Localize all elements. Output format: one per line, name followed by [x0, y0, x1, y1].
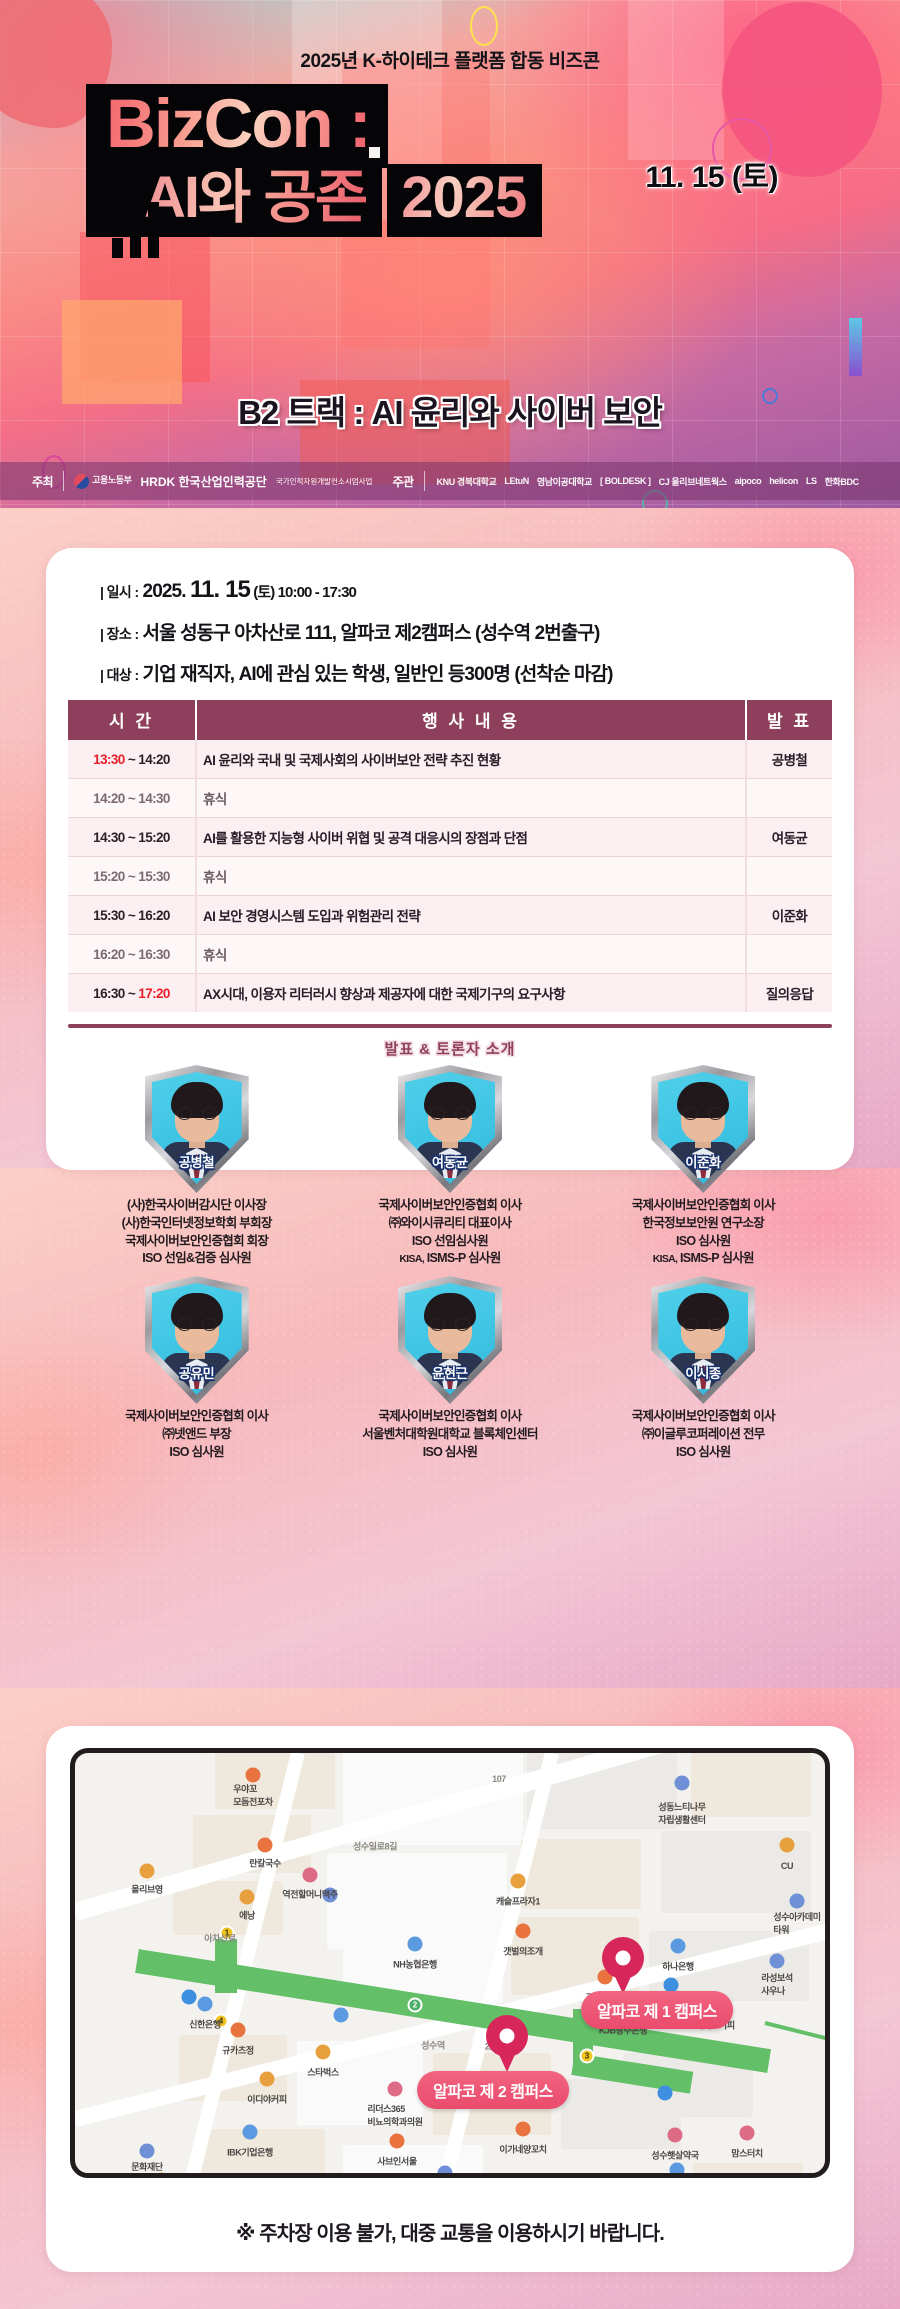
speaker-name: 윤현근: [432, 1363, 468, 1382]
map-label: NH농협은행: [393, 1958, 437, 1971]
map-label: 리더스365비뇨의학과의원: [367, 2102, 422, 2128]
parking-notice: ※ 주차장 이용 불가, 대중 교통을 이용하시기 바랍니다.: [46, 2217, 854, 2246]
schedule-cell-title: AI를 활용한 지능형 사이버 위협 및 공격 대응시의 장점과 단점: [196, 818, 746, 857]
hero-date-badge: 11. 15 (토): [645, 152, 778, 196]
map-pin-label-campus-1[interactable]: 알파코 제 1 캠퍼스: [581, 1991, 733, 2029]
map-label: 맘스터치: [731, 2147, 763, 2160]
sponsor-host-label: 주최: [32, 473, 53, 490]
info-label-audience: | 대상 :: [100, 665, 139, 685]
info-datetime-date: 11. 15: [190, 576, 250, 603]
schedule-cell-time: 16:30 ~ 17:20: [68, 974, 196, 1013]
info-datetime-suffix: (토) 10:00 - 17:30: [250, 584, 356, 601]
map-label: 란칼국수: [249, 1857, 281, 1870]
speaker-card: 이시종국제사이버보안인증협회 이사㈜이글루코퍼레이션 전무ISO 심사원: [577, 1276, 830, 1461]
schedule-cell-presenter: 공병철: [746, 740, 832, 779]
map-label: 올리브영: [131, 1883, 163, 1896]
speaker-card: 윤현근국제사이버보안인증협회 이사서울벤처대학원대학교 블록체인센터ISO 심사…: [323, 1276, 576, 1461]
speaker-bio-line: ISO 선임심사원: [378, 1233, 521, 1251]
speaker-bio-line: 국제사이버보안인증협회 이사: [378, 1197, 521, 1215]
hero-title-dot: [369, 147, 380, 158]
sponsor-divider-1: [63, 471, 64, 491]
map-frame[interactable]: 1 4 2 3 2 P 107우야꼬모듬전포차란칼국수성수일로8길역전할머니맥주…: [70, 1748, 830, 2178]
schedule-body: 13:30 ~ 14:20AI 윤리와 국내 및 국제사회의 사이버보안 전략 …: [68, 740, 832, 1012]
hero-shape-rect-3: [628, 0, 724, 160]
speaker-name: 이준화: [685, 1152, 721, 1171]
map-label: 라성보석사우나: [761, 1971, 793, 1997]
speaker-bio-line: (사)한국인터넷정보학회 부회장: [122, 1215, 272, 1233]
speaker-bio-line: 국제사이버보안인증협회 이사: [125, 1408, 268, 1426]
info-value-datetime: 2025. 11. 15 (토) 10:00 - 17:30: [143, 576, 356, 604]
hero-tick-marks: [112, 202, 159, 258]
speaker-bio-line: ISO 심사원: [362, 1444, 538, 1462]
schedule-cell-title: 휴식: [196, 779, 746, 818]
speaker-bio-line: ISO 선임&검증 심사원: [122, 1250, 272, 1268]
map-label: 107: [492, 1774, 506, 1784]
sponsor-divider-2: [424, 471, 425, 491]
map-label: 성수일로6길: [543, 2174, 587, 2179]
logo-knu: KNU 경북대학교: [437, 475, 497, 488]
sponsor-bar: 주최 고용노동부 HRDK 한국산업인력공단 국가인적자원개발컨소시엄사업 주관…: [0, 462, 900, 500]
speaker-bio-line: ㈜이글루코퍼레이션 전무: [632, 1426, 775, 1444]
info-value-audience: 기업 재직자, AI에 관심 있는 학생, 일반인 등300명 (선착순 마감): [143, 659, 613, 686]
logo-cj-olivenetworks: CJ 올리브네트웍스: [659, 475, 727, 488]
info-row-location: | 장소 : 서울 성동구 아차산로 111, 알파코 제2캠퍼스 (성수역 2…: [100, 618, 854, 645]
speaker-bio: (사)한국사이버감시단 이사장(사)한국인터넷정보학회 부회장국제사이버보안인증…: [122, 1197, 272, 1268]
speaker-bio-line: 국제사이버보안인증협회 이사: [632, 1408, 775, 1426]
schedule-cell-title: AI 보안 경영시스템 도입과 위험관리 전략: [196, 896, 746, 935]
speaker-name: 공병철: [179, 1152, 215, 1171]
schedule-row: 15:30 ~ 16:20AI 보안 경영시스템 도입과 위험관리 전략이준화: [68, 896, 832, 935]
map-label: 갯벌의조개: [503, 1945, 542, 1958]
map-label: 신한은행: [189, 2018, 221, 2031]
location-map-card: 1 4 2 3 2 P 107우야꼬모듬전포차란칼국수성수일로8길역전할머니맥주…: [46, 1726, 854, 2272]
speaker-bio-line: 한국정보보안원 연구소장: [632, 1215, 775, 1233]
hero-title-year: 2025: [401, 168, 526, 227]
schedule-cell-time: 14:20 ~ 14:30: [68, 779, 196, 818]
speaker-bio: 국제사이버보안인증협회 이사서울벤처대학원대학교 블록체인센터ISO 심사원: [362, 1408, 538, 1461]
map-canvas[interactable]: 1 4 2 3 2 P 107우야꼬모듬전포차란칼국수성수일로8길역전할머니맥주…: [75, 1753, 825, 2173]
schedule-row: 14:20 ~ 14:30휴식: [68, 779, 832, 818]
schedule-cell-presenter: [746, 779, 832, 818]
schedule-header-presenter: 발 표: [746, 700, 832, 740]
map-label: 아차산로: [204, 1932, 236, 1945]
speaker-bio-line: 서울벤처대학원대학교 블록체인센터: [362, 1426, 538, 1444]
logo-hrdk: HRDK 한국산업인력공단: [141, 473, 267, 490]
schedule-cell-presenter: 이준화: [746, 896, 832, 935]
map-label: 이가네양꼬치: [499, 2143, 546, 2156]
speaker-card: 공유민국제사이버보안인증협회 이사㈜넷앤드 부장ISO 심사원: [70, 1276, 323, 1461]
speaker-bio-line: ㈜넷앤드 부장: [125, 1426, 268, 1444]
schedule-table: 시 간 행 사 내 용 발 표 13:30 ~ 14:20AI 윤리와 국내 및…: [68, 700, 832, 1012]
speaker-name: 이시종: [685, 1363, 721, 1382]
map-label: 성수햇살약국: [651, 2149, 698, 2162]
info-datetime-prefix: 2025.: [143, 581, 190, 602]
event-info-list: | 일시 : 2025. 11. 15 (토) 10:00 - 17:30 | …: [46, 548, 854, 686]
map-label: 규카츠정: [222, 2044, 254, 2057]
map-pin-label-campus-2[interactable]: 알파코 제 2 캠퍼스: [417, 2071, 569, 2109]
speaker-bio-line: 국제사이버보안인증협회 회장: [122, 1233, 272, 1251]
speaker-card: 공병철(사)한국사이버감시단 이사장(사)한국인터넷정보학회 부회장국제사이버보…: [70, 1065, 323, 1268]
logo-yeungnam: 영남이공대학교: [537, 475, 592, 488]
logo-letun: LEtuN: [504, 476, 529, 486]
schedule-cell-presenter: 질의응답: [746, 974, 832, 1013]
speaker-bio-line: 국제사이버보안인증협회 이사: [362, 1408, 538, 1426]
schedule-row: 16:30 ~ 17:20AX시대, 이용자 리터러시 향상과 제공자에 대한 …: [68, 974, 832, 1013]
speaker-bio-line: ㈜와이시큐리티 대표이사: [378, 1215, 521, 1233]
hero-ring-yellow: [470, 6, 498, 46]
schedule-cell-time: 16:20 ~ 16:30: [68, 935, 196, 974]
event-details-card: | 일시 : 2025. 11. 15 (토) 10:00 - 17:30 | …: [46, 548, 854, 1170]
speaker-bio-line: KISA, ISMS-P 심사원: [632, 1250, 775, 1268]
hero-track-title: B2 트랙 : AI 윤리와 사이버 보안: [0, 386, 900, 434]
speaker-shield-portrait: 공병철: [145, 1065, 249, 1193]
speaker-bio-line: (사)한국사이버감시단 이사장: [122, 1197, 272, 1215]
hero-title-main: BizCon :: [106, 90, 370, 158]
map-label: 스타벅스: [307, 2066, 339, 2079]
speaker-shield-portrait: 여동균: [398, 1065, 502, 1193]
schedule-cell-time: 13:30 ~ 14:20: [68, 740, 196, 779]
map-label: 성동느티나무자립생활센터: [658, 1800, 705, 1826]
map-pin-campus-1[interactable]: [602, 1937, 644, 1993]
map-label: 성수일로8길: [353, 1840, 397, 1853]
speaker-bio: 국제사이버보안인증협회 이사㈜와이시큐리티 대표이사ISO 선임심사원KISA,…: [378, 1197, 521, 1268]
map-label: 문화재단란1경: [131, 2160, 163, 2178]
map-label: 성수아카데미타워: [773, 1910, 820, 1936]
schedule-row: 15:20 ~ 15:30휴식: [68, 857, 832, 896]
speaker-bio-line: KISA, ISMS-P 심사원: [378, 1250, 521, 1268]
schedule-cell-time: 14:30 ~ 15:20: [68, 818, 196, 857]
speaker-name: 여동균: [432, 1152, 468, 1171]
schedule-cell-title: 휴식: [196, 935, 746, 974]
taegeuk-icon: [74, 474, 89, 489]
info-label-datetime: | 일시 :: [100, 582, 139, 602]
speaker-bio-line: ISO 심사원: [632, 1444, 775, 1462]
sponsor-organizer-logos: KNU 경북대학교 LEtuN 영남이공대학교 [ BOLDESK ] CJ 올…: [437, 475, 859, 488]
logo-helicon: helicon: [769, 476, 798, 486]
logo-molab-text: 고용노동부: [92, 475, 131, 485]
hero-title-year-wrap: 2025: [387, 164, 542, 237]
schedule-cell-time: 15:20 ~ 15:30: [68, 857, 196, 896]
info-row-audience: | 대상 : 기업 재직자, AI에 관심 있는 학생, 일반인 등300명 (…: [100, 659, 854, 686]
speaker-bio-line: ISO 심사원: [125, 1444, 268, 1462]
hero-bar-violet: [849, 318, 862, 376]
map-label: 에낭: [239, 1909, 255, 1922]
map-pin-campus-2[interactable]: [486, 2015, 528, 2071]
schedule-header-row: 시 간 행 사 내 용 발 표: [68, 700, 832, 740]
map-label: 하나은행: [662, 1960, 694, 1973]
schedule-cell-time: 15:30 ~ 16:20: [68, 896, 196, 935]
sponsor-organizer-label: 주관: [392, 473, 413, 490]
schedule-cell-presenter: 여동균: [746, 818, 832, 857]
speaker-shield-portrait: 윤현근: [398, 1276, 502, 1404]
logo-aipoco: aipoco: [735, 476, 762, 486]
logo-hanwha-bdc: 한화BDC: [825, 475, 859, 488]
speakers-heading: 발표 & 토론자 소개: [46, 1038, 854, 1059]
info-row-datetime: | 일시 : 2025. 11. 15 (토) 10:00 - 17:30: [100, 576, 854, 604]
speaker-bio: 국제사이버보안인증협회 이사㈜넷앤드 부장ISO 심사원: [125, 1408, 268, 1461]
speaker-bio-line: 국제사이버보안인증협회 이사: [632, 1197, 775, 1215]
schedule-cell-presenter: [746, 935, 832, 974]
logo-kin-consortium: 국가인적자원개발컨소시엄사업: [276, 476, 373, 487]
logo-molab: 고용노동부: [74, 473, 131, 488]
sponsor-host-logos: 고용노동부 HRDK 한국산업인력공단 국가인적자원개발컨소시엄사업: [74, 473, 372, 490]
schedule-header-content: 행 사 내 용: [196, 700, 746, 740]
speaker-card: 이준화국제사이버보안인증협회 이사한국정보보안원 연구소장ISO 심사원KISA…: [577, 1065, 830, 1268]
pin-body-2: [486, 2015, 528, 2057]
schedule-cell-title: 휴식: [196, 857, 746, 896]
schedule-cell-title: AI 윤리와 국내 및 국제사회의 사이버보안 전략 추진 현황: [196, 740, 746, 779]
map-label: CU: [781, 1861, 793, 1871]
schedule-cell-title: AX시대, 이용자 리터러시 향상과 제공자에 대한 국제기구의 요구사항: [196, 974, 746, 1013]
speaker-name: 공유민: [179, 1363, 215, 1382]
map-label: IBK기업은행: [227, 2146, 273, 2159]
info-value-location: 서울 성동구 아차산로 111, 알파코 제2캠퍼스 (성수역 2번출구): [143, 618, 600, 645]
schedule-row: 13:30 ~ 14:20AI 윤리와 국내 및 국제사회의 사이버보안 전략 …: [68, 740, 832, 779]
map-label: 성수역: [421, 2039, 445, 2052]
map-label: 우야꼬모듬전포차: [233, 1782, 272, 1808]
pin-body-1: [602, 1937, 644, 1979]
speaker-bio-line: ISO 심사원: [632, 1233, 775, 1251]
hero-banner: 2025년 K-하이테크 플랫폼 합동 비즈콘 BizCon : AI와 공존 …: [0, 0, 900, 508]
map-label: 사브인서울: [377, 2155, 416, 2168]
event-poster: 2025년 K-하이테크 플랫폼 합동 비즈콘 BizCon : AI와 공존 …: [0, 0, 900, 2309]
hero-title-sub: AI와 공존: [144, 168, 366, 227]
schedule-section: 시 간 행 사 내 용 발 표 13:30 ~ 14:20AI 윤리와 국내 및…: [68, 700, 832, 1012]
hero-title-row-primary: BizCon :: [86, 84, 388, 168]
speaker-bio: 국제사이버보안인증협회 이사한국정보보안원 연구소장ISO 심사원KISA, I…: [632, 1197, 775, 1268]
speaker-shield-portrait: 이시종: [651, 1276, 755, 1404]
hero-kicker: 2025년 K-하이테크 플랫폼 합동 비즈콘: [0, 46, 900, 73]
schedule-row: 16:20 ~ 16:30휴식: [68, 935, 832, 974]
map-label: 이디야커피: [247, 2093, 286, 2106]
map-label: 역전할머니맥주: [282, 1888, 337, 1901]
speaker-shield-portrait: 공유민: [145, 1276, 249, 1404]
info-label-location: | 장소 :: [100, 624, 139, 644]
logo-boldesk: [ BOLDESK ]: [600, 476, 651, 486]
schedule-cell-presenter: [746, 857, 832, 896]
speakers-divider: [68, 1024, 832, 1028]
logo-ls: LS: [806, 476, 817, 486]
speaker-bio: 국제사이버보안인증협회 이사㈜이글루코퍼레이션 전무ISO 심사원: [632, 1408, 775, 1461]
schedule-header-time: 시 간: [68, 700, 196, 740]
schedule-row: 14:30 ~ 15:20AI를 활용한 지능형 사이버 위협 및 공격 대응시…: [68, 818, 832, 857]
speaker-shield-portrait: 이준화: [651, 1065, 755, 1193]
speaker-card: 여동균국제사이버보안인증협회 이사㈜와이시큐리티 대표이사ISO 선임심사원KI…: [323, 1065, 576, 1268]
speakers-grid: 공병철(사)한국사이버감시단 이사장(사)한국인터넷정보학회 부회장국제사이버보…: [46, 1059, 854, 1461]
map-label: 캐슬프라자1: [496, 1895, 540, 1908]
